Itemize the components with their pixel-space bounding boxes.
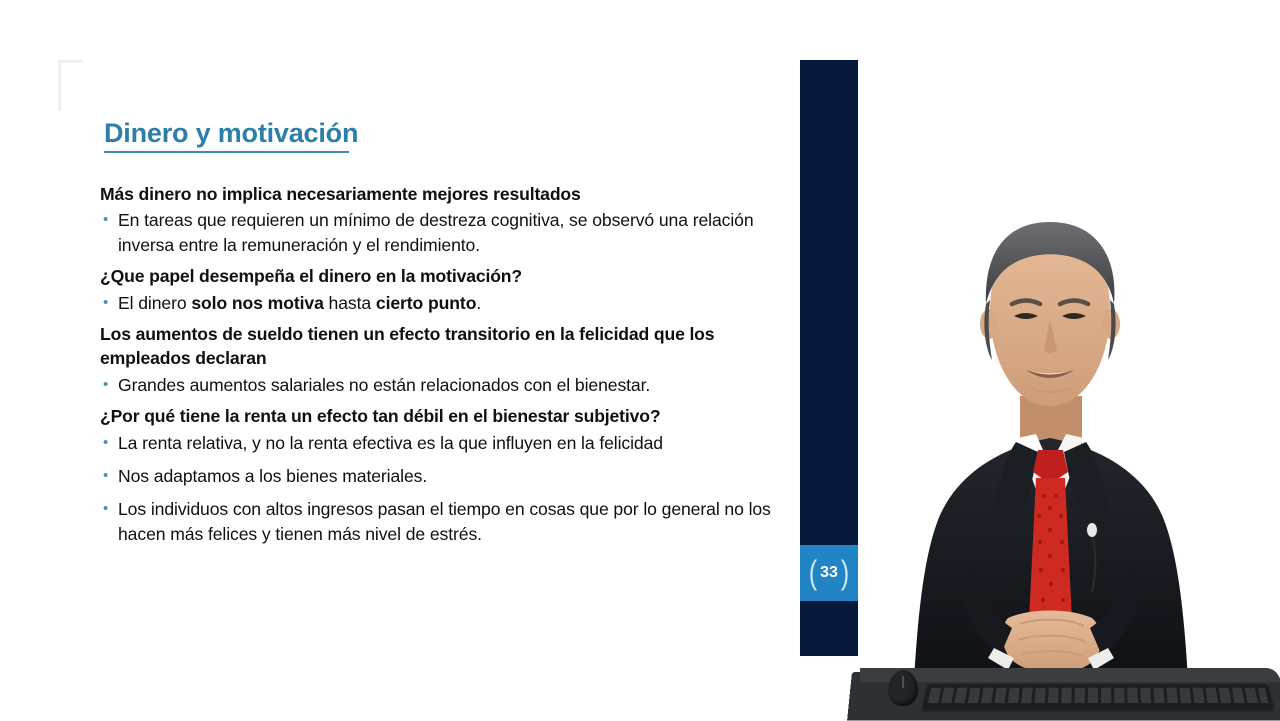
bullet-2-text-b: hasta <box>324 293 376 313</box>
list-item: • En tareas que requieren un mínimo de d… <box>100 208 790 257</box>
slide-number: 33 <box>820 565 838 581</box>
list-item: • Grandes aumentos salariales no están r… <box>100 373 790 397</box>
bullet-marker-icon: • <box>100 291 118 315</box>
decorative-corner-bracket <box>58 60 83 111</box>
bullet-marker-icon: • <box>100 497 118 521</box>
bullet-marker-icon: • <box>100 464 118 488</box>
list-item: • Los individuos con altos ingresos pasa… <box>100 497 790 546</box>
list-item: • El dinero solo nos motiva hasta cierto… <box>100 291 790 315</box>
bullet-2-text-a: El dinero <box>118 293 191 313</box>
body-bullet-6: Los individuos con altos ingresos pasan … <box>118 497 790 546</box>
lecture-slide: Dinero y motivación Más dinero no implic… <box>0 0 1280 720</box>
body-heading-3: Los aumentos de sueldo tienen un efecto … <box>100 322 790 371</box>
page-title: Dinero y motivación <box>104 118 358 149</box>
bracket-right-icon: ) <box>841 556 849 590</box>
title-underline <box>104 151 349 153</box>
bullet-marker-icon: • <box>100 431 118 455</box>
body-heading-2: ¿Que papel desempeña el dinero en la mot… <box>100 264 790 288</box>
bracket-left-icon: ( <box>809 556 817 590</box>
keyboard-keys <box>928 688 1269 703</box>
bullet-marker-icon: • <box>100 373 118 397</box>
slide-number-badge: ( 33 ) <box>800 545 858 601</box>
body-bullet-1: En tareas que requieren un mínimo de des… <box>118 208 790 257</box>
computer-keyboard <box>922 684 1273 709</box>
presenter-video <box>860 200 1280 720</box>
mouse-scroll-wheel <box>902 676 904 688</box>
slide-body: Más dinero no implica necesariamente mej… <box>100 182 790 548</box>
list-item: • La renta relativa, y no la renta efect… <box>100 431 790 455</box>
body-bullet-4: La renta relativa, y no la renta efectiv… <box>118 431 790 455</box>
bullet-2-text-c: . <box>476 293 481 313</box>
body-bullet-2: El dinero solo nos motiva hasta cierto p… <box>118 291 790 315</box>
body-bullet-5: Nos adaptamos a los bienes materiales. <box>118 464 790 488</box>
body-bullet-3: Grandes aumentos salariales no están rel… <box>118 373 790 397</box>
bullet-2-bold-a: solo nos motiva <box>191 293 323 313</box>
body-heading-4: ¿Por qué tiene la renta un efecto tan dé… <box>100 404 790 428</box>
list-item: • Nos adaptamos a los bienes materiales. <box>100 464 790 488</box>
bullet-marker-icon: • <box>100 208 118 232</box>
bullet-2-bold-b: cierto punto <box>376 293 476 313</box>
body-heading-1: Más dinero no implica necesariamente mej… <box>100 182 790 206</box>
desk-edge <box>860 668 1280 682</box>
